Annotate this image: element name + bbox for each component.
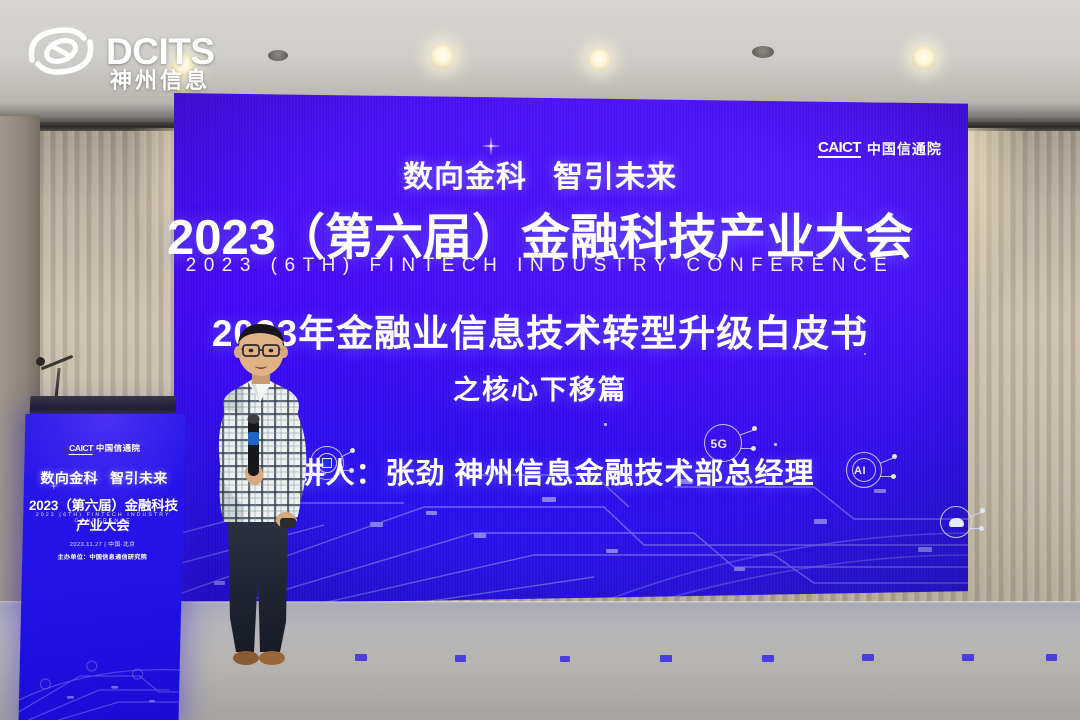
dcits-swirl-logo-icon (22, 16, 100, 88)
speaker-person (196, 322, 324, 680)
badge-5g-label: 5G (696, 438, 742, 450)
podium-organizer-line: 主办单位：中国信息通信研究院 (22, 552, 182, 561)
speaker-credit-line: 演讲人：张劲 神州信息金融技术部总经理 (0, 450, 1080, 492)
screen-tagline: 数向金科智引未来 (0, 152, 1080, 196)
dcits-brand-en: DCITS (106, 33, 215, 70)
tagline-left: 数向金科 (403, 161, 527, 194)
floor-reflection (660, 655, 672, 662)
microphone-head-icon (36, 357, 45, 366)
dcits-watermark: DCITS 神州信息 (22, 16, 222, 94)
particle (604, 423, 607, 426)
whitepaper-title: 2023年金融业信息技术转型升级白皮书 (0, 303, 1080, 357)
podium-title-en: 2023 (6TH) FINTECH INDUSTRY CONFERENCE (23, 512, 183, 524)
ceiling-spotlight (912, 46, 936, 70)
podium-circuit-pattern (19, 600, 182, 720)
whitepaper-subtitle: 之核心下移篇 (0, 368, 1080, 407)
floor-reflection (355, 654, 367, 661)
tagline-right: 智引未来 (553, 161, 677, 194)
floor-reflection (862, 654, 874, 661)
ceiling-vent (752, 46, 774, 58)
conference-title-en: 2023 (6TH) FINTECH INDUSTRY CONFERENCE (0, 255, 1080, 277)
ceiling-spotlight (430, 44, 455, 69)
dcits-brand-cn: 神州信息 (110, 70, 210, 92)
badge-cloud-icon (938, 502, 990, 548)
floor-reflection (962, 654, 974, 661)
conference-stage-photo: CAICT 中国信通院 数向金科智引未来 2023（第六届）金融科技产业大会 2… (0, 0, 1080, 720)
floor-reflection (1046, 654, 1057, 661)
floor-reflection (762, 655, 774, 662)
floor-reflection (455, 655, 466, 662)
floor-reflection (560, 656, 570, 662)
ceiling-vent (268, 50, 288, 61)
particle (774, 443, 777, 446)
podium-date-location: 2023.11.27 | 中国·北京 (22, 539, 182, 548)
ceiling-spotlight (588, 48, 611, 71)
